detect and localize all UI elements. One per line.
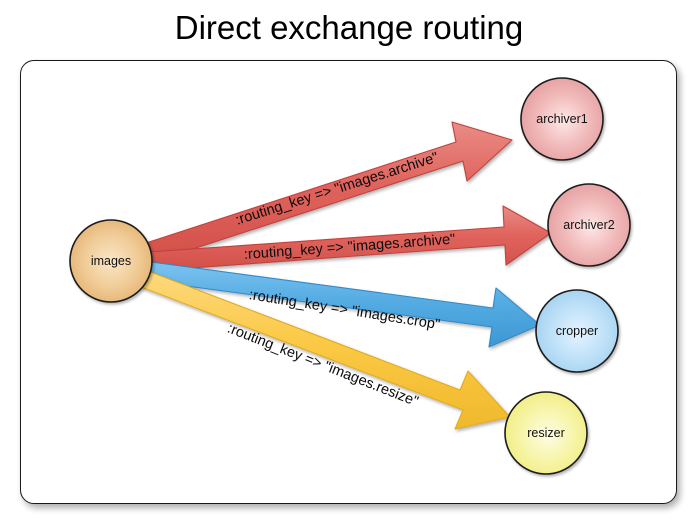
- node-archiver2[interactable]: [548, 184, 630, 266]
- diagram-root: Direct exchange routing: [0, 0, 698, 526]
- node-resizer[interactable]: [505, 392, 587, 474]
- node-images[interactable]: [70, 220, 152, 302]
- node-cropper[interactable]: [536, 290, 618, 372]
- node-archiver1[interactable]: [521, 78, 603, 160]
- diagram-canvas: [0, 0, 698, 526]
